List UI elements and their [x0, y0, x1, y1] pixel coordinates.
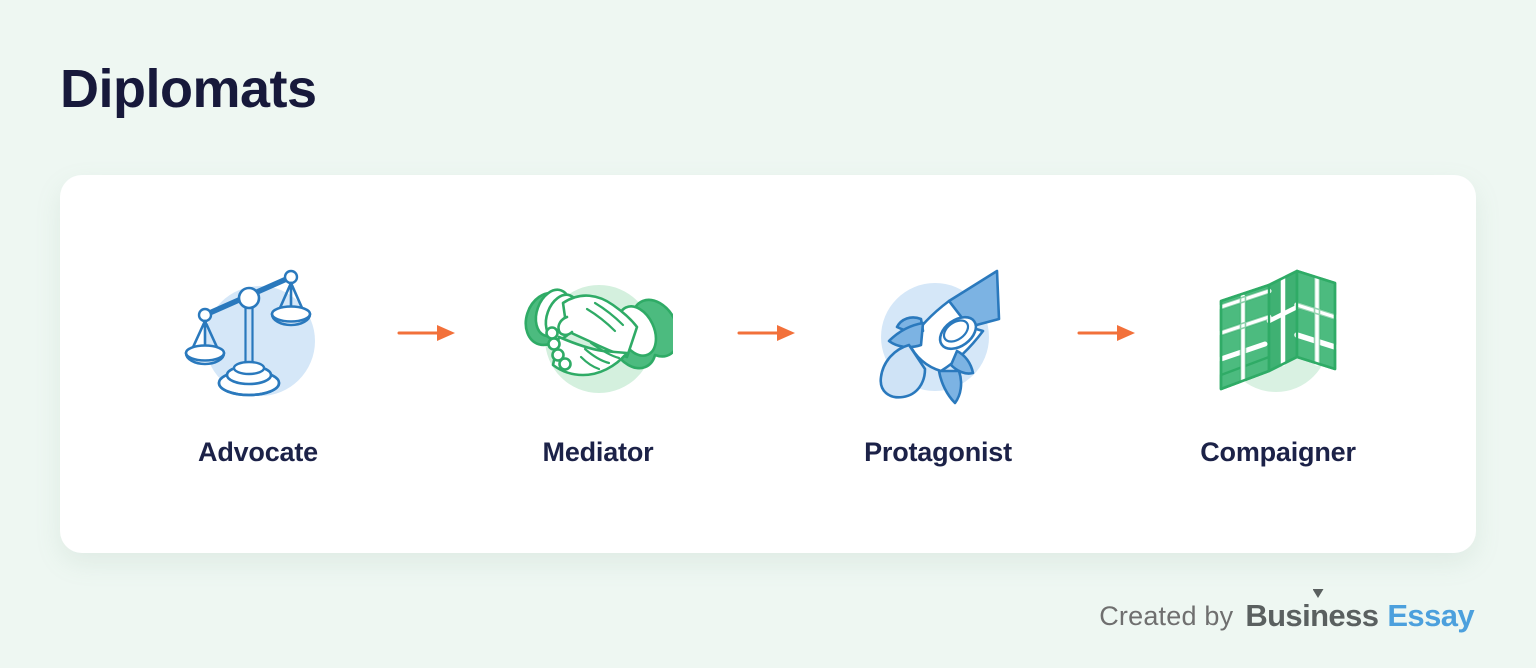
personality-flow: Advocate	[60, 175, 1476, 553]
flow-step-label: Protagonist	[864, 437, 1012, 468]
page-title: Diplomats	[60, 58, 317, 120]
footer-credit: Created by Business Essay	[1099, 598, 1474, 634]
folded-map-icon	[1203, 261, 1353, 411]
flow-step-label: Mediator	[543, 437, 654, 468]
logo-word-essay: Essay	[1387, 598, 1474, 634]
balance-scales-icon	[183, 261, 333, 411]
flow-step-protagonist[interactable]: Protagonist	[820, 261, 1056, 468]
arrow-right-icon	[1056, 322, 1160, 344]
flow-step-advocate[interactable]: Advocate	[140, 261, 376, 468]
logo-business-text: Business	[1245, 598, 1378, 633]
diplomats-card: Advocate	[60, 175, 1476, 553]
flow-step-compaigner[interactable]: Compaigner	[1160, 261, 1396, 468]
handshake-icon	[523, 261, 673, 411]
arrow-right-icon	[376, 322, 480, 344]
page-root: Diplomats	[0, 0, 1536, 668]
flow-step-label: Compaigner	[1200, 437, 1356, 468]
business-essay-logo: Business Essay	[1245, 598, 1474, 634]
created-by-label: Created by	[1099, 601, 1233, 632]
flow-step-label: Advocate	[198, 437, 318, 468]
logo-word-business: Business	[1245, 598, 1378, 634]
necktie-icon	[1313, 589, 1324, 598]
arrow-right-icon	[716, 322, 820, 344]
rocket-icon	[863, 261, 1013, 411]
flow-step-mediator[interactable]: Mediator	[480, 261, 716, 468]
